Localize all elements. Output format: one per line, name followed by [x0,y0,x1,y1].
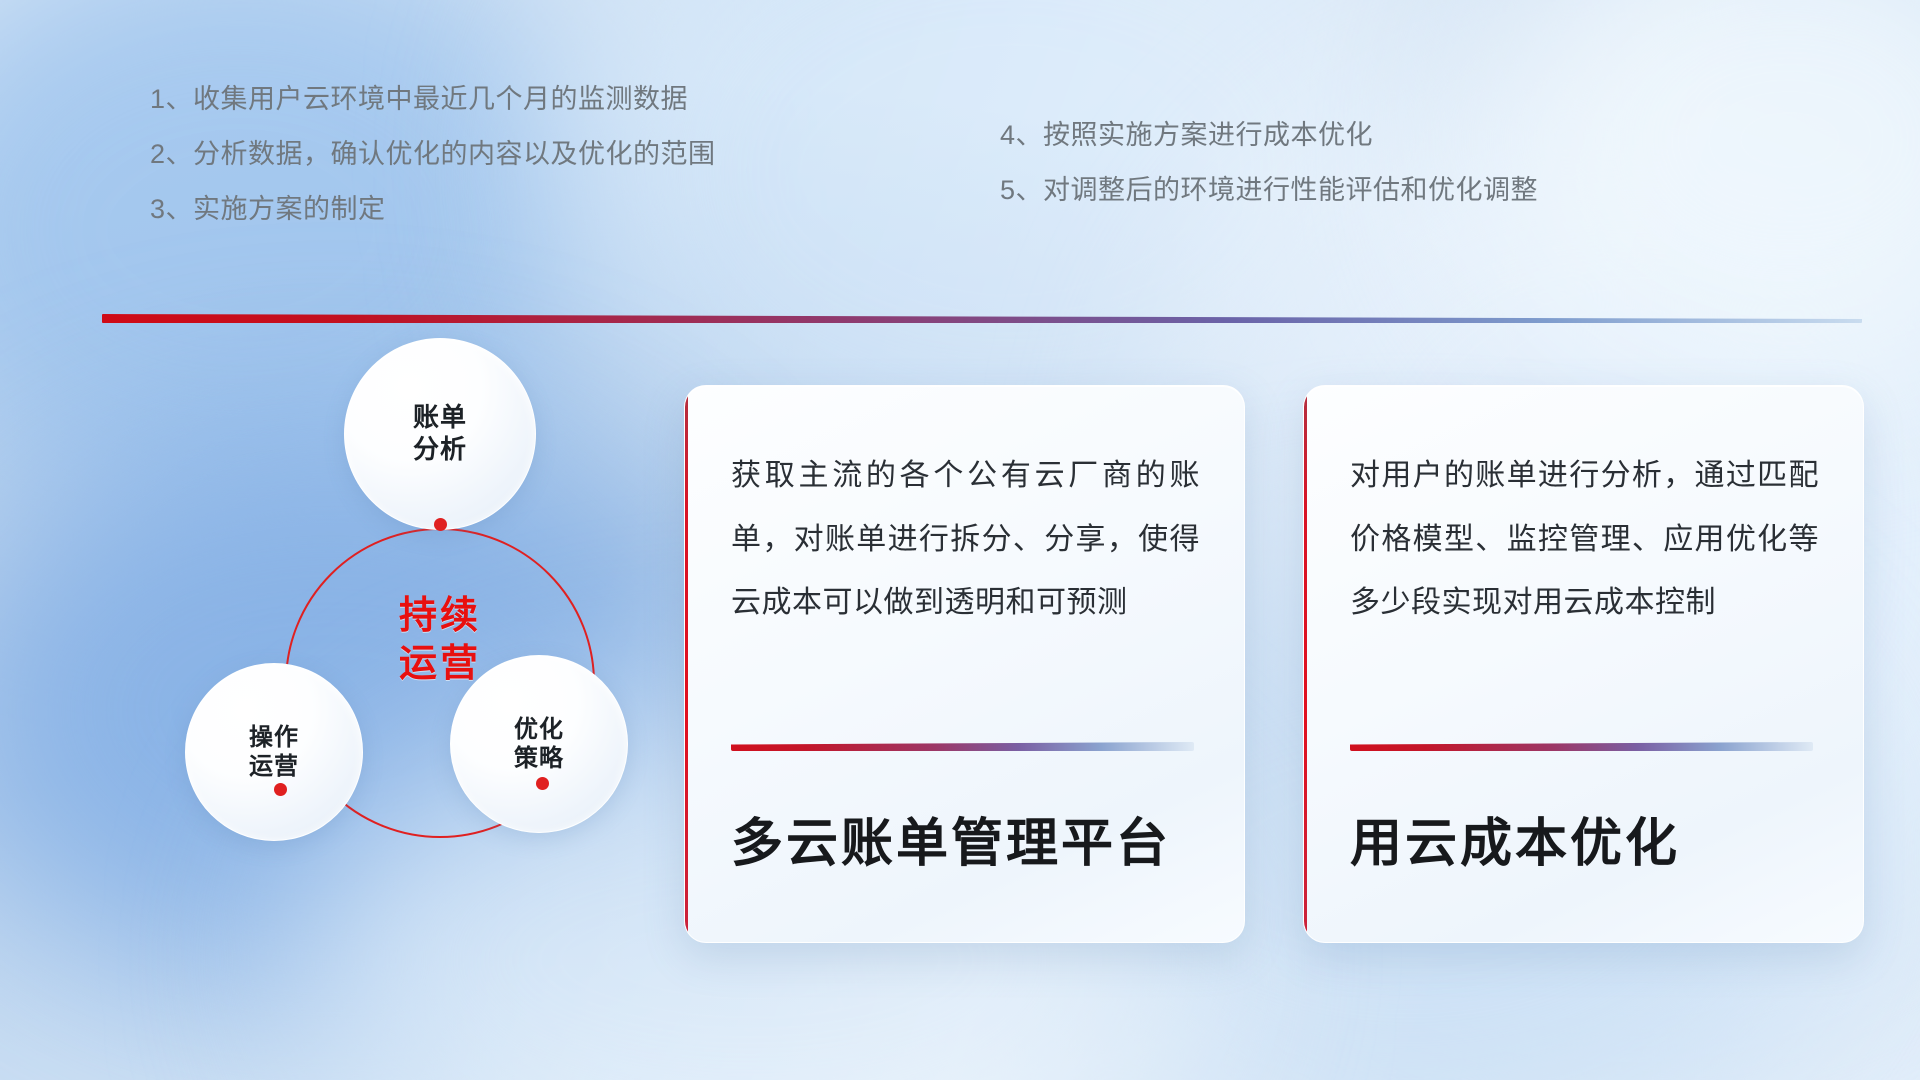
bubble-label-line2: 策略 [514,744,564,773]
step-item: 2、分析数据，确认优化的内容以及优化的范围 [150,141,716,168]
bubble-label-line2: 运营 [249,752,299,781]
step-item: 4、按照实施方案进行成本优化 [1000,122,1538,149]
step-item: 1、收集用户云环境中最近几个月的监测数据 [150,86,716,113]
card-divider-fill [1350,742,1813,751]
bubble-label-line1: 优化 [514,715,564,744]
bubble-label-line1: 操作 [249,723,299,752]
bubble-label-line1: 账单 [413,402,467,434]
steps-column-right: 4、按照实施方案进行成本优化 5、对调整后的环境进行性能评估和优化调整 [1000,122,1538,232]
venn-circle-diagram: 持续 运营 账单 分析 操作 运营 优化 策略 [95,350,635,950]
bubble-label-line2: 分析 [413,434,467,466]
bubble-optimization-strategy[interactable]: 优化 策略 [450,655,628,833]
card-divider [1350,742,1813,751]
bubble-operations[interactable]: 操作 运营 [185,663,363,841]
card-title: 多云账单管理平台 [731,801,1171,876]
ring-node-dot-icon [536,777,549,790]
feature-cards: 获取主流的各个公有云厂商的账单，对账单进行拆分、分享，使得云成本可以做到透明和可… [684,385,1864,950]
bubble-bill-analysis[interactable]: 账单 分析 [344,338,536,530]
ring-node-dot-icon [274,783,287,796]
ring-node-dot-icon [434,518,447,531]
step-item: 3、实施方案的制定 [150,196,716,223]
accent-divider-fill [102,314,1862,323]
steps-list: 1、收集用户云环境中最近几个月的监测数据 2、分析数据，确认优化的内容以及优化的… [0,86,1920,256]
step-item: 5、对调整后的环境进行性能评估和优化调整 [1000,177,1538,204]
card-body-text: 对用户的账单进行分析，通过匹配价格模型、监控管理、应用优化等多少段实现对用云成本… [1350,444,1819,635]
card-body-text: 获取主流的各个公有云厂商的账单，对账单进行拆分、分享，使得云成本可以做到透明和可… [731,444,1200,635]
feature-card-multicloud-billing[interactable]: 获取主流的各个公有云厂商的账单，对账单进行拆分、分享，使得云成本可以做到透明和可… [684,385,1245,943]
card-title: 用云成本优化 [1350,801,1680,876]
card-divider [731,742,1194,751]
card-divider-fill [731,742,1194,751]
feature-card-cost-optimization[interactable]: 对用户的账单进行分析，通过匹配价格模型、监控管理、应用优化等多少段实现对用云成本… [1303,385,1864,943]
center-label-line1: 持续 [285,593,595,641]
steps-column-left: 1、收集用户云环境中最近几个月的监测数据 2、分析数据，确认优化的内容以及优化的… [150,86,716,251]
accent-divider [102,314,1862,323]
